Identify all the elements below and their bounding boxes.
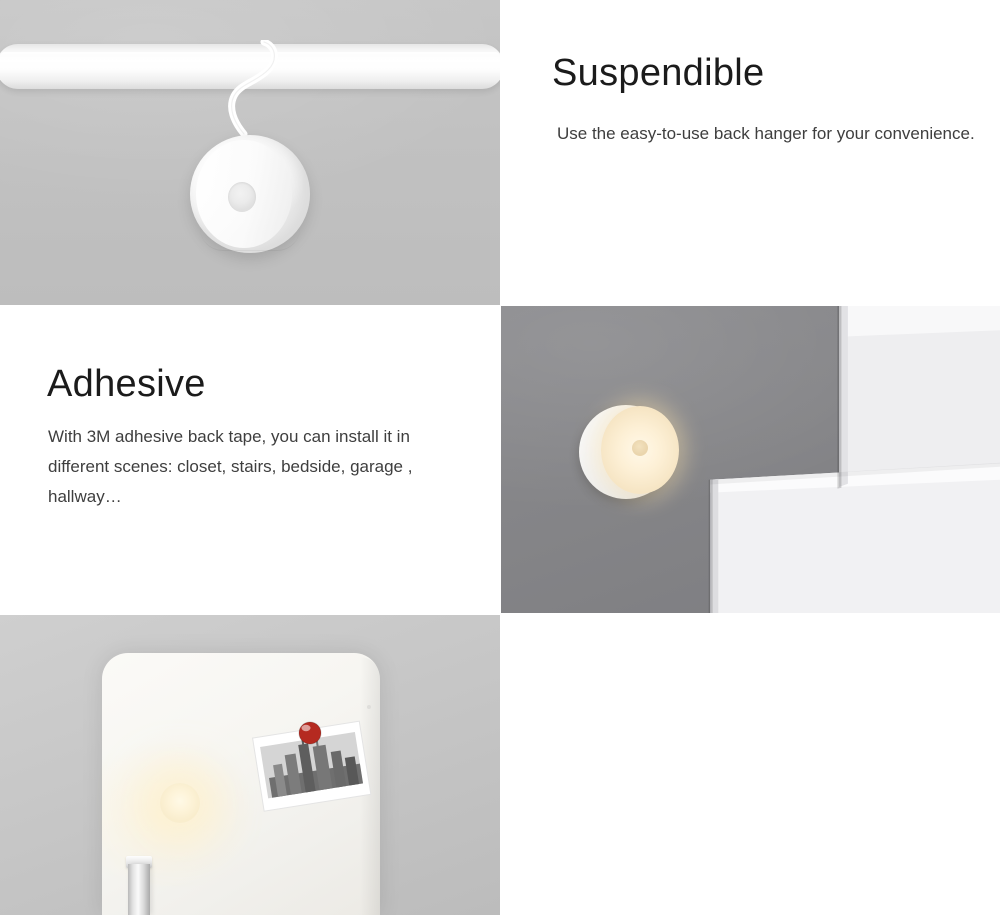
feature-block-adhesive: Adhesive With 3M adhesive back tape, you… [0, 305, 500, 615]
stairs-illustration [501, 306, 1000, 613]
motion-sensor-dome [228, 182, 256, 212]
feature-description-adhesive: With 3M adhesive back tape, you can inst… [48, 422, 473, 512]
feature-description-suspendible: Use the easy-to-use back hanger for your… [557, 120, 977, 148]
back-hanger-hook-icon [218, 40, 280, 142]
magnet-photo-group [248, 713, 378, 818]
feature-heading-suspendible: Suspendible [552, 52, 764, 95]
feature-block-suspendible: Suspendible Use the easy-to-use back han… [500, 0, 1000, 305]
photo-suspendible-hanging-light [0, 0, 500, 305]
feature-heading-adhesive: Adhesive [47, 363, 206, 406]
photo-magnetic-refrigerator [0, 615, 500, 915]
refrigerator-handle [128, 864, 150, 915]
motion-sensor-dome [632, 440, 648, 456]
refrigerator-hinge-dot [367, 705, 371, 709]
night-light-seam [200, 228, 300, 251]
feature-block-magnetic: Magnetic Built-in magnet can adhere to r… [500, 615, 1000, 915]
photo-adhesive-wall-stairs [501, 306, 1000, 613]
product-feature-infographic: Suspendible Use the easy-to-use back han… [0, 0, 1000, 915]
night-light-glowing-on-fridge [160, 783, 200, 823]
